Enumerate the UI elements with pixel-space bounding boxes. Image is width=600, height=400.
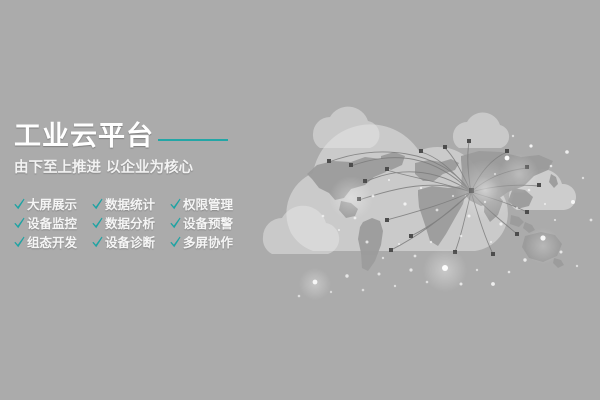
feature-item: 数据分析 <box>92 214 168 233</box>
check-icon <box>170 198 181 210</box>
feature-item: 数据统计 <box>92 195 168 214</box>
feature-item: 大屏展示 <box>14 195 90 214</box>
feature-label: 设备预警 <box>183 217 233 231</box>
feature-label: 组态开发 <box>27 236 77 250</box>
check-icon <box>92 217 103 229</box>
feature-label: 数据统计 <box>105 198 155 212</box>
banner: 工业云平台 由下至上推进 以企业为核心 大屏展示 数据统计 <box>0 0 600 400</box>
feature-label: 权限管理 <box>183 198 233 212</box>
feature-label: 设备监控 <box>27 217 77 231</box>
cloud-world-network-illustration <box>255 70 600 310</box>
check-icon <box>14 217 25 229</box>
check-icon <box>92 236 103 248</box>
title-underline-rule <box>158 139 228 141</box>
title-row: 工业云平台 <box>14 118 264 152</box>
feature-label: 设备诊断 <box>105 236 155 250</box>
feature-label: 多屏协作 <box>183 236 233 250</box>
feature-item: 多屏协作 <box>170 233 246 252</box>
feature-item: 设备监控 <box>14 214 90 233</box>
feature-item: 设备诊断 <box>92 233 168 252</box>
headline-block: 工业云平台 由下至上推进 以企业为核心 大屏展示 数据统计 <box>14 118 264 252</box>
feature-item: 组态开发 <box>14 233 90 252</box>
feature-list: 大屏展示 数据统计 权限管理 <box>14 195 264 252</box>
page-title: 工业云平台 <box>14 122 154 152</box>
feature-item: 权限管理 <box>170 195 246 214</box>
check-icon <box>14 198 25 210</box>
feature-label: 数据分析 <box>105 217 155 231</box>
check-icon <box>92 198 103 210</box>
feature-item: 设备预警 <box>170 214 246 233</box>
check-icon <box>170 236 181 248</box>
check-icon <box>170 217 181 229</box>
check-icon <box>14 236 25 248</box>
page-subtitle: 由下至上推进 以企业为核心 <box>14 159 264 177</box>
feature-label: 大屏展示 <box>27 198 77 212</box>
